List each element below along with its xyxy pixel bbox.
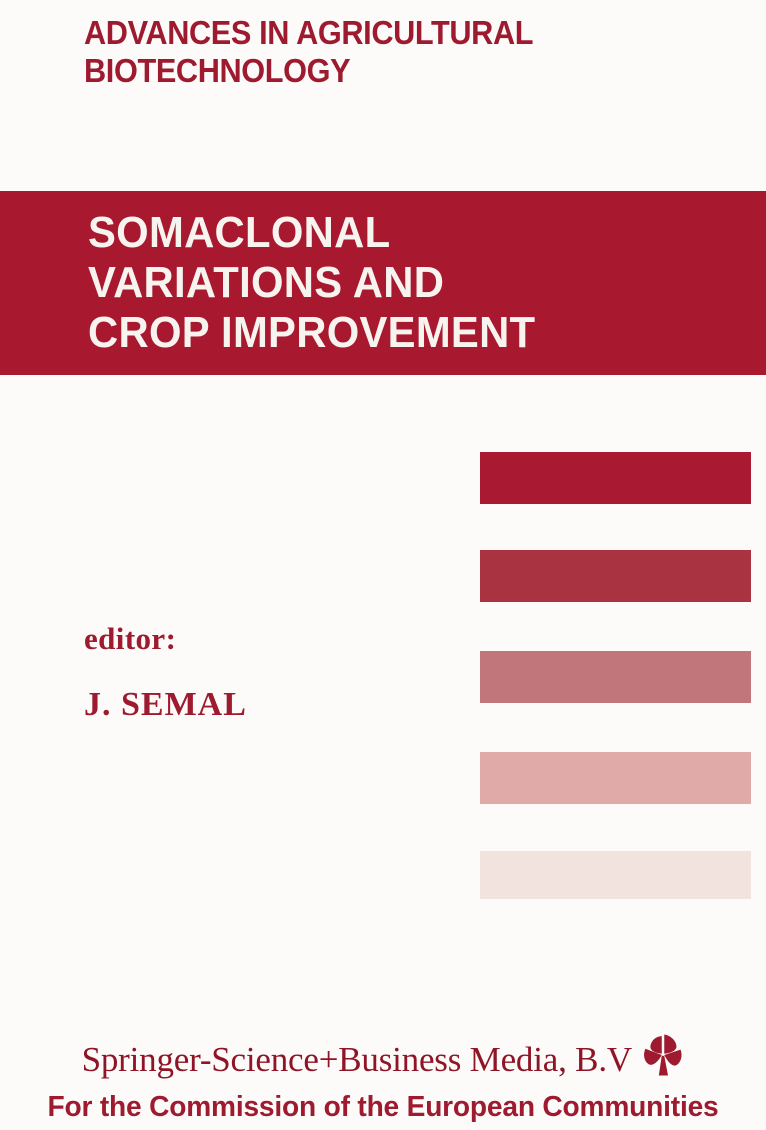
editor-name: J. SEMAL (84, 687, 247, 723)
title-band-inner: SOMACLONAL VARIATIONS AND CROP IMPROVEME… (88, 208, 756, 358)
title-band: SOMACLONAL VARIATIONS AND CROP IMPROVEME… (0, 191, 766, 375)
publisher-block: Springer-Science+Business Media, B.V (0, 1032, 766, 1124)
publisher-subtitle: For the Commission of the European Commu… (11, 1090, 754, 1124)
decorative-bar-4 (480, 752, 751, 804)
decorative-bar-2 (480, 550, 751, 602)
editor-label: editor: (84, 622, 247, 656)
book-title-line-1: SOMACLONAL (88, 208, 723, 258)
book-title-line-3: CROP IMPROVEMENT (88, 308, 723, 358)
decorative-bar-3 (480, 651, 751, 703)
series-title: ADVANCES IN AGRICULTURAL BIOTECHNOLOGY (84, 14, 661, 90)
decorative-bar-1 (480, 452, 751, 504)
decorative-bar-5 (480, 851, 751, 899)
book-title-line-2: VARIATIONS AND (88, 258, 723, 308)
publisher-name: Springer-Science+Business Media, B.V (82, 1040, 632, 1080)
springer-pinwheel-logo-icon (642, 1032, 684, 1078)
book-cover: ADVANCES IN AGRICULTURAL BIOTECHNOLOGY S… (0, 0, 766, 1130)
editor-block: editor: J. SEMAL (84, 622, 247, 723)
publisher-name-row: Springer-Science+Business Media, B.V (82, 1032, 685, 1088)
